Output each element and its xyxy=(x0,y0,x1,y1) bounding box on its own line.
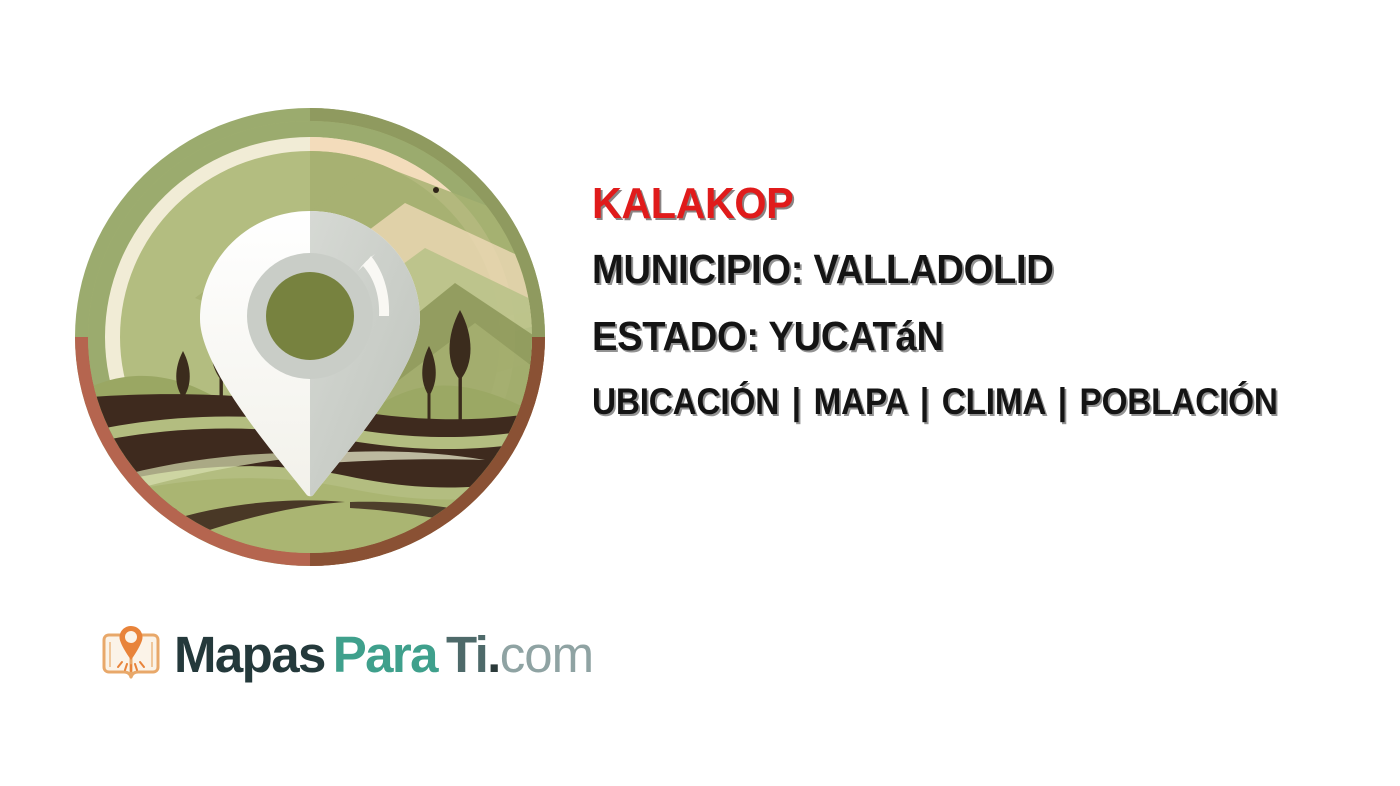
estado-line: ESTADO: YUCATáN xyxy=(592,316,1327,357)
emblem-svg xyxy=(75,108,545,566)
nav-separator: | xyxy=(1054,381,1070,422)
brand-part-para: Para xyxy=(333,629,437,680)
brand-part-com: com xyxy=(500,629,593,680)
brand-logo[interactable]: Mapas Para Ti . com xyxy=(100,622,593,686)
location-landscape-emblem xyxy=(75,108,545,566)
nav-item-mapa[interactable]: MAPA xyxy=(814,381,908,422)
nav-item-clima[interactable]: CLIMA xyxy=(942,381,1045,422)
brand-part-dot: . xyxy=(487,629,500,680)
section-nav: UBICACIÓN | MAPA | CLIMA | POBLACIÓN xyxy=(592,383,1303,420)
page-title: KALAKOP xyxy=(592,182,1335,226)
nav-item-poblacion[interactable]: POBLACIÓN xyxy=(1080,381,1278,422)
nav-separator: | xyxy=(788,381,804,422)
municipio-line: MUNICIPIO: VALLADOLID xyxy=(592,249,1327,290)
bird-dot xyxy=(433,187,439,193)
place-info-block: KALAKOP MUNICIPIO: VALLADOLID ESTADO: YU… xyxy=(592,182,1382,420)
open-book-with-pin-icon xyxy=(100,622,162,686)
nav-separator: | xyxy=(916,381,932,422)
brand-part-mapas: Mapas xyxy=(174,629,325,680)
brand-wordmark: Mapas Para Ti . com xyxy=(174,629,593,680)
brand-part-ti: Ti xyxy=(446,629,487,680)
nav-item-ubicacion[interactable]: UBICACIÓN xyxy=(592,381,779,422)
